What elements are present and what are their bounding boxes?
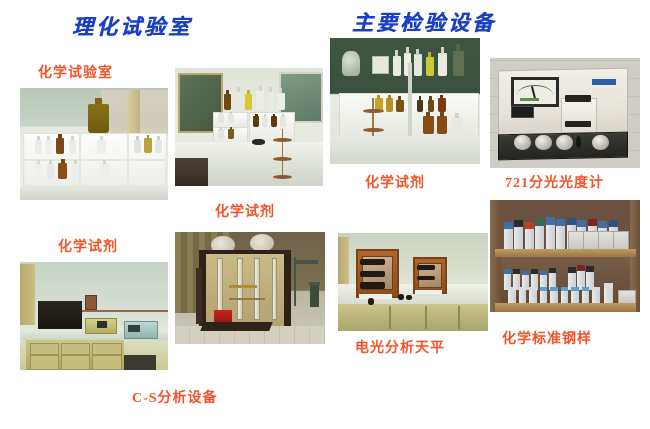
photo-standard-steel-samples xyxy=(490,200,640,312)
slide-title-left: 理化试验室 xyxy=(72,11,192,41)
caption-spectrophotometer: 721分光光度计 xyxy=(505,172,604,192)
slide-title-right: 主要检验设备 xyxy=(352,7,496,37)
caption-reagent-middle: 化学试剂 xyxy=(215,201,275,221)
caption-reagent-top: 化学试剂 xyxy=(365,172,425,192)
presentation-slide: 理化试验室 主要检验设备 xyxy=(0,0,650,429)
photo-reagent-bench xyxy=(175,68,323,186)
caption-standard-steel-samples: 化学标准钢样 xyxy=(502,328,592,348)
photo-green-wall-lab xyxy=(330,38,480,164)
photo-lab-bench-instruments xyxy=(20,262,168,370)
caption-reagent-left: 化学试剂 xyxy=(58,236,118,256)
photo-analytical-balance xyxy=(338,233,488,331)
caption-analytical-balance: 电光分析天平 xyxy=(355,337,445,357)
photo-721-spectrophotometer xyxy=(490,58,640,168)
caption-cs-equipment: C-S分析设备 xyxy=(132,387,218,407)
photo-cs-analysis-equipment xyxy=(175,232,325,344)
photo-chemistry-lab xyxy=(20,88,168,200)
caption-chemistry-lab: 化学试验室 xyxy=(38,62,113,82)
